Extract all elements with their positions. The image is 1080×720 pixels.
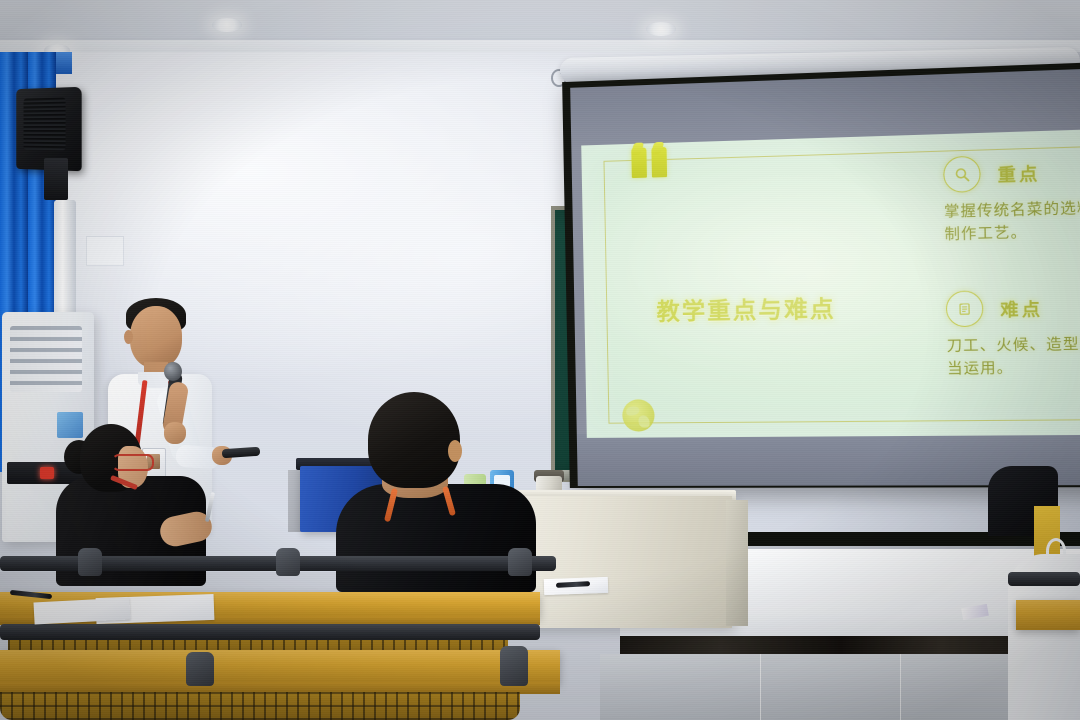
rail-cap [276,548,300,576]
microphone-head-icon [164,362,182,381]
slide-point-body: 刀工、火候、造型的恰当运用。 [947,334,1080,382]
seat-back-rail [0,624,540,640]
rail-cap [508,548,532,576]
presenter-head [130,306,182,368]
floor-seam [760,654,761,720]
speaker-grill [24,98,66,151]
downlight-icon [646,22,676,36]
globe-icon [622,399,655,431]
book-icon [946,290,984,327]
attendee-torso [336,484,536,592]
glasses-icon [112,454,154,471]
speaker-bracket [44,158,68,200]
desk-row-front [0,650,560,684]
rail-cap [500,646,528,686]
downlight-icon [212,18,242,32]
floor-seam [900,654,901,720]
lectern-side [726,500,748,626]
ac-vent-grille [10,326,82,392]
screen-surface: 教学重点与难点 重点 掌握传统名菜的选料及制作工艺。 [570,69,1080,486]
desk-row-right [1016,600,1080,630]
seat-back-rail-right [1008,572,1080,586]
pen[interactable] [205,492,215,522]
presenter-ear [124,330,133,344]
slide-point-key: 重点 掌握传统名菜的选料及制作工艺。 [943,151,1080,247]
attendee-right-edge [988,466,1080,720]
slide-point-body: 掌握传统名菜的选料及制作工艺。 [944,198,1080,248]
quote-mark-icon [631,147,667,178]
rail-cap [78,548,102,576]
classroom-photo: 教学重点与难点 重点 掌握传统名菜的选料及制作工艺。 [0,0,1080,720]
projection-screen: 教学重点与难点 重点 掌握传统名菜的选料及制作工艺。 [562,62,1080,488]
slide-title: 教学重点与难点 [656,289,836,327]
ac-power-led-icon [40,467,54,479]
attendee-ear [448,440,462,462]
attendee-head [368,392,460,488]
magnifier-icon [943,156,981,193]
slide-point-label: 难点 [1000,295,1043,322]
book-basket [0,692,520,720]
slide-point-difficult: 难点 刀工、火候、造型的恰当运用。 [946,288,1080,382]
wall-notice [86,236,124,266]
rail-cap [186,652,214,686]
slide-point-label: 重点 [997,159,1040,186]
projected-slide: 教学重点与难点 重点 掌握传统名菜的选料及制作工艺。 [581,129,1080,438]
